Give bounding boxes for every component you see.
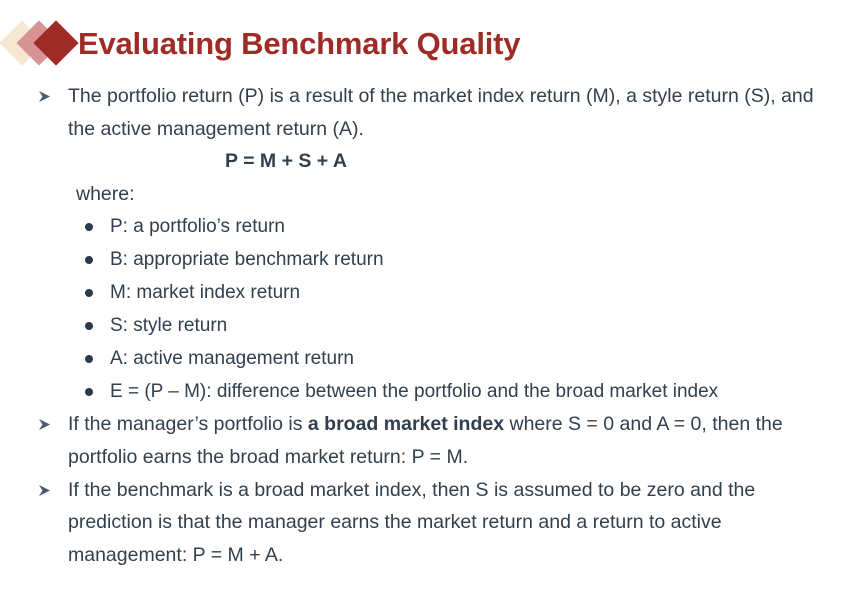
list-item: A: active management return <box>0 342 862 375</box>
round-bullet-icon <box>85 289 93 297</box>
round-bullet-icon <box>85 256 93 264</box>
bullet-item-2: If the manager’s portfolio is a broad ma… <box>0 408 862 473</box>
round-bullet-icon <box>85 223 93 231</box>
page-title: Evaluating Benchmark Quality <box>78 28 520 59</box>
arrow-bullet-icon <box>38 80 56 102</box>
definition-text: A: active management return <box>110 348 354 369</box>
list-item: B: appropriate benchmark return <box>0 243 862 276</box>
round-bullet-icon <box>85 322 93 330</box>
title-row: Evaluating Benchmark Quality <box>0 14 520 72</box>
where-label: where: <box>0 178 862 211</box>
definition-text: E = (P – M): difference between the port… <box>110 381 718 402</box>
bullet-1-text: The portfolio return (P) is a result of … <box>68 85 814 140</box>
arrow-bullet-icon <box>38 408 56 430</box>
arrow-bullet-icon <box>38 474 56 496</box>
slide: Evaluating Benchmark Quality The portfol… <box>0 0 862 593</box>
bullet-3-text: If the benchmark is a broad market index… <box>68 479 755 566</box>
definition-text: P: a portfolio’s return <box>110 216 285 237</box>
slide-body: The portfolio return (P) is a result of … <box>0 80 862 571</box>
bullet-item-3: If the benchmark is a broad market index… <box>0 474 862 572</box>
formula-line: P = M + S + A <box>0 145 862 178</box>
definition-text: S: style return <box>110 315 227 336</box>
round-bullet-icon <box>85 388 93 396</box>
definition-text: B: appropriate benchmark return <box>110 249 384 270</box>
list-item: E = (P – M): difference between the port… <box>0 375 862 408</box>
bullet-2-text-bold: a broad market index <box>308 413 504 435</box>
three-diamonds-logo <box>2 15 82 71</box>
definition-text: M: market index return <box>110 282 300 303</box>
list-item: S: style return <box>0 309 862 342</box>
bullet-item-1: The portfolio return (P) is a result of … <box>0 80 862 145</box>
list-item: M: market index return <box>0 276 862 309</box>
list-item: P: a portfolio’s return <box>0 210 862 243</box>
bullet-2-text-part1: If the manager’s portfolio is <box>68 413 308 435</box>
round-bullet-icon <box>85 355 93 363</box>
